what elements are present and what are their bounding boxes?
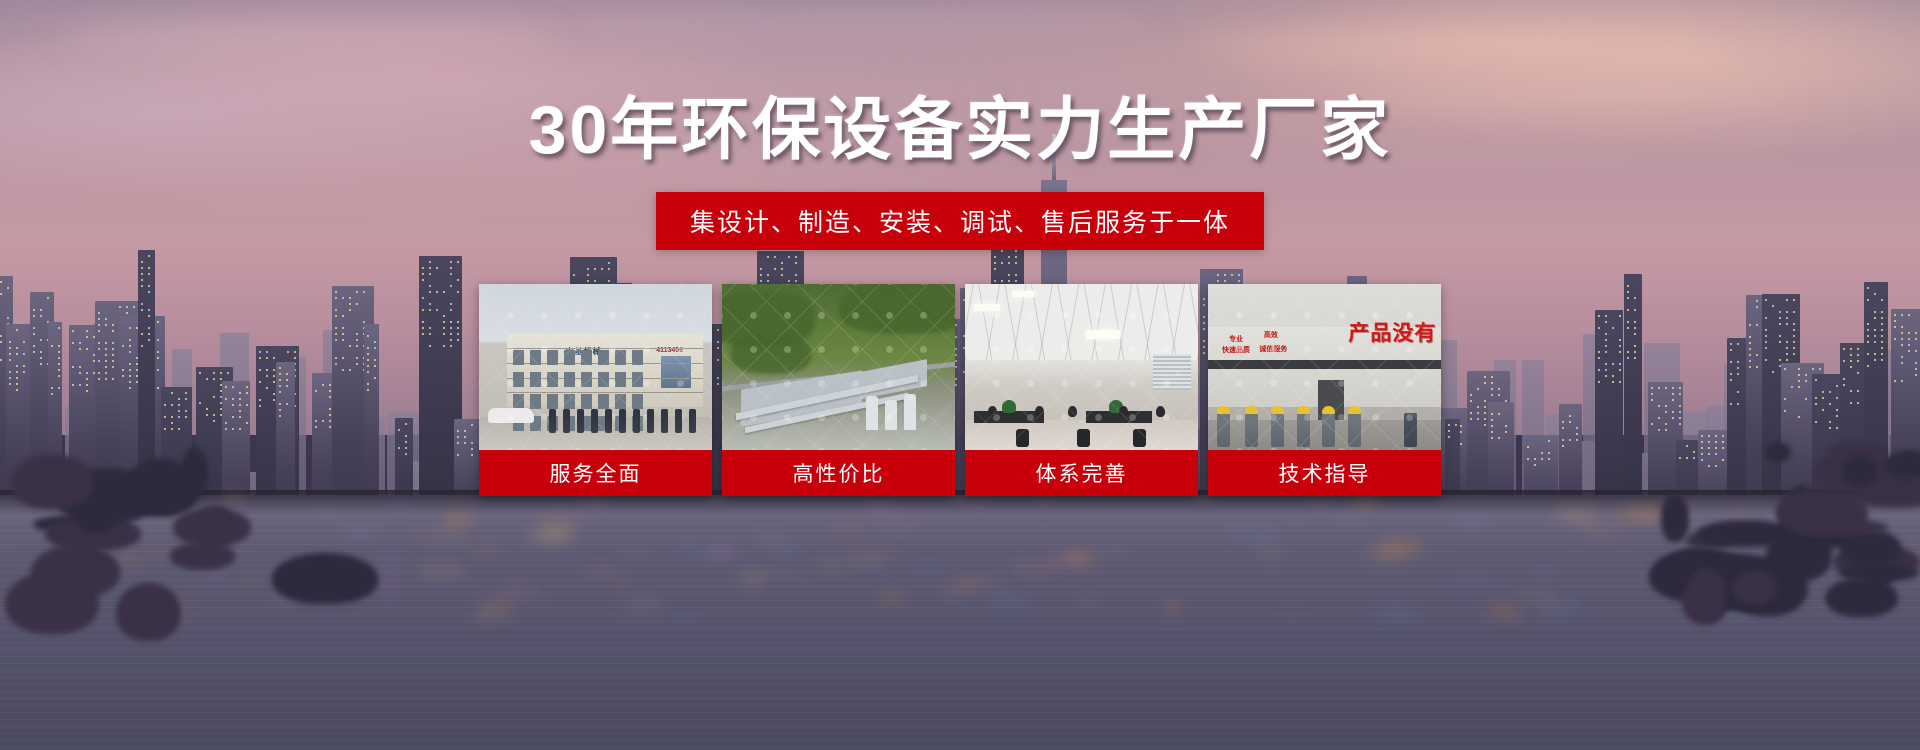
watermark-overlay bbox=[965, 284, 1198, 450]
feature-card-list: 中基机械 4113456 服务全面 bbox=[479, 284, 1441, 496]
card-image-office-building: 中基机械 4113456 bbox=[479, 284, 712, 450]
feature-card[interactable]: 产品没有 专业 高效 快速品质 诚信服务 技术指导 bbox=[1208, 284, 1441, 496]
card-label: 服务全面 bbox=[479, 450, 712, 496]
subtitle-banner: 集设计、制造、安装、调试、售后服务于一体 bbox=[656, 192, 1264, 250]
feature-card[interactable]: 高性价比 bbox=[722, 284, 955, 496]
hero-banner: 30年环保设备实力生产厂家 集设计、制造、安装、调试、售后服务于一体 中基机械 … bbox=[0, 0, 1920, 750]
card-image-plant-aerial bbox=[722, 284, 955, 450]
card-label: 高性价比 bbox=[722, 450, 955, 496]
watermark-overlay bbox=[722, 284, 955, 450]
watermark-overlay bbox=[1208, 284, 1441, 450]
card-label: 技术指导 bbox=[1208, 450, 1441, 496]
card-image-office-interior bbox=[965, 284, 1198, 450]
river-water bbox=[0, 495, 1920, 750]
page-title: 30年环保设备实力生产厂家 bbox=[0, 96, 1920, 164]
card-label: 体系完善 bbox=[965, 450, 1198, 496]
feature-card[interactable]: 中基机械 4113456 服务全面 bbox=[479, 284, 712, 496]
card-image-factory-workshop: 产品没有 专业 高效 快速品质 诚信服务 bbox=[1208, 284, 1441, 450]
feature-card[interactable]: 体系完善 bbox=[965, 284, 1198, 496]
